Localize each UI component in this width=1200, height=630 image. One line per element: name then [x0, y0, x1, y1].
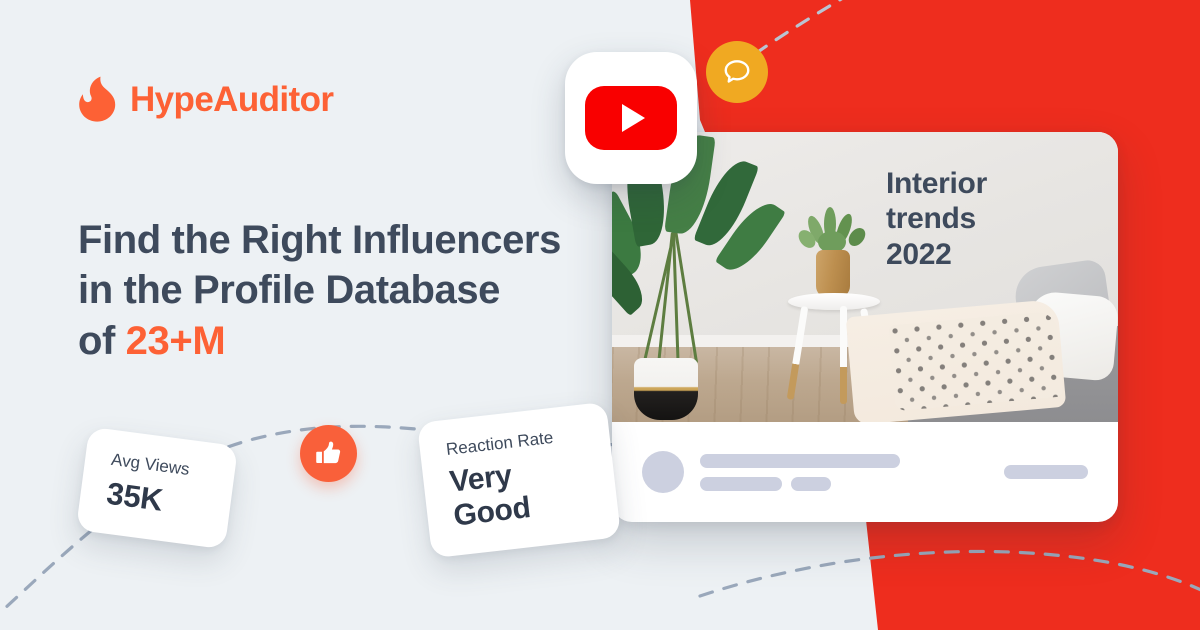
- comment-bubble-icon: [722, 57, 752, 87]
- headline-accent-count: 23+M: [126, 319, 226, 363]
- stat-card-reaction-rate[interactable]: Reaction Rate Very Good: [417, 402, 621, 559]
- thumbs-up-icon: [315, 440, 342, 467]
- photo-overlay-title: Interior trends 2022: [886, 166, 987, 272]
- photo-plant-pot: [634, 358, 698, 420]
- headline: Find the Right Influencers in the Profil…: [78, 215, 638, 366]
- stat-value: Very Good: [448, 450, 593, 533]
- skeleton-row-bottom: [700, 477, 900, 491]
- post-preview-card[interactable]: Interior trends 2022: [612, 132, 1118, 522]
- photo-title-line-1: Interior: [886, 166, 987, 201]
- comment-badge[interactable]: [706, 41, 768, 103]
- stat-value: 35K: [105, 476, 207, 524]
- flame-icon: [78, 76, 116, 122]
- post-meta-skeleton: [612, 422, 1118, 522]
- thumbs-up-badge[interactable]: [300, 425, 357, 482]
- headline-line-3: of 23+M: [78, 316, 638, 366]
- headline-line-2: in the Profile Database: [78, 265, 638, 315]
- avatar-placeholder: [642, 451, 684, 493]
- skeleton-lines: [700, 454, 900, 491]
- photo-vase: [816, 250, 850, 298]
- headline-line-3-prefix: of: [78, 319, 126, 363]
- youtube-play-icon: [585, 86, 677, 150]
- photo-title-line-2: trends: [886, 201, 987, 236]
- skeleton-row-top: [700, 454, 900, 468]
- skeleton-bar-right: [1004, 465, 1088, 479]
- photo-title-line-3: 2022: [886, 237, 987, 272]
- brand-name: HypeAuditor: [130, 82, 333, 117]
- post-photo: Interior trends 2022: [612, 132, 1118, 422]
- youtube-tile[interactable]: [565, 52, 697, 184]
- photo-throw-pattern: [889, 311, 1064, 411]
- skeleton-bar-mid: [700, 477, 782, 491]
- skeleton-bar-short: [791, 477, 831, 491]
- stat-card-avg-views[interactable]: Avg Views 35K: [76, 427, 238, 550]
- headline-line-1: Find the Right Influencers: [78, 215, 638, 265]
- promo-banner: HypeAuditor Find the Right Influencers i…: [0, 0, 1200, 630]
- brand-logo[interactable]: HypeAuditor: [78, 76, 333, 122]
- play-triangle-icon: [622, 104, 645, 132]
- skeleton-bar-long: [700, 454, 900, 468]
